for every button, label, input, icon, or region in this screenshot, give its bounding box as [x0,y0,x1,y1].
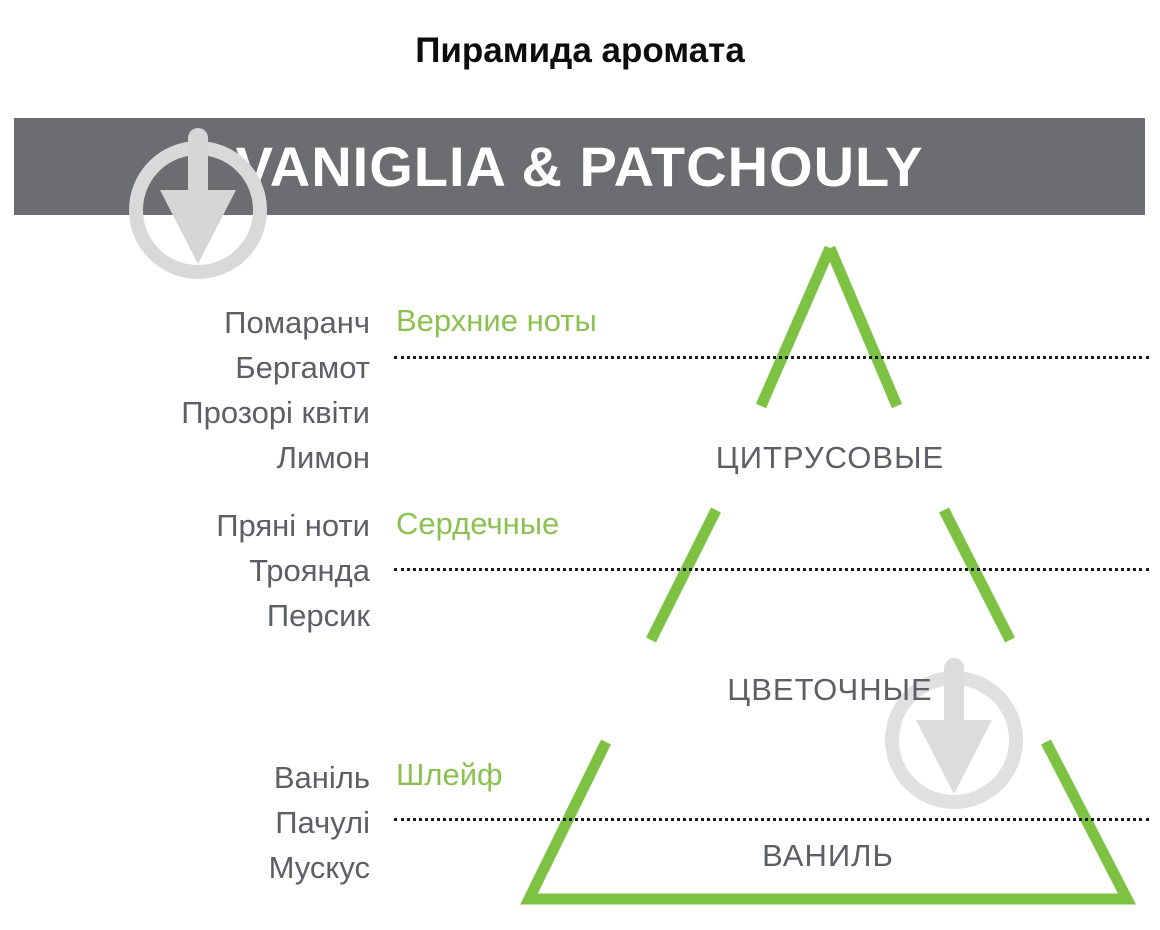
family-label-citrus: ЦИТРУСОВЫЕ [630,440,1030,476]
note-item: Бергамот [0,345,370,390]
notes-list-heart: Пряні ноти Троянда Персик [0,503,370,638]
family-label-vanilla: ВАНИЛЬ [628,838,1028,874]
product-name: VANIGLIA & PATCHOULY [14,118,1145,215]
tier-heading-base: Шлейф [396,757,503,793]
family-label-floral: ЦВЕТОЧНЫЕ [630,672,1030,708]
note-item: Прозорі квіти [0,390,370,435]
notes-list-base: Ваніль Пачулі Мускус [0,755,370,890]
note-item: Троянда [0,548,370,593]
fragrance-pyramid-infographic: Пирамида аромата VANIGLIA & PATCHOULY [0,0,1160,930]
note-item: Персик [0,593,370,638]
note-item: Ваніль [0,755,370,800]
note-item: Помаранч [0,300,370,345]
pyramid-tier-heart [651,510,1010,640]
tier-divider-base [394,818,1149,821]
note-item: Лимон [0,435,370,480]
pyramid-tier-top [761,248,897,406]
notes-list-top: Помаранч Бергамот Прозорі квіти Лимон [0,300,370,480]
tier-divider-heart [394,568,1149,571]
page-title: Пирамида аромата [0,30,1160,72]
tier-heading-heart: Сердечные [396,506,559,542]
tier-heading-top: Верхние ноты [396,303,597,339]
product-banner: VANIGLIA & PATCHOULY [14,118,1145,215]
tier-divider-top [394,356,1149,359]
note-item: Мускус [0,845,370,890]
note-item: Пряні ноти [0,503,370,548]
note-item: Пачулі [0,800,370,845]
